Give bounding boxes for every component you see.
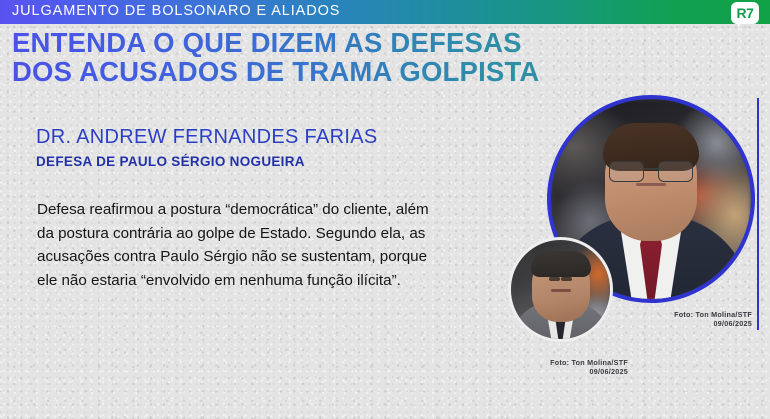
lawyer-role: DEFESA DE PAULO SÉRGIO NOGUEIRA: [36, 154, 305, 169]
portrait-small: [508, 237, 613, 342]
vertical-accent-rule: [757, 98, 759, 330]
lawyer-name: DR. ANDREW FERNANDES FARIAS: [36, 126, 377, 149]
glasses-lens-right: [658, 161, 693, 182]
portrait-small-hair: [531, 251, 591, 277]
headline-line-1: ENTENDA O QUE DIZEM AS DEFESAS: [12, 28, 592, 57]
page-title: ENTENDA O QUE DIZEM AS DEFESAS DOS ACUSA…: [12, 28, 592, 86]
photo-credit-small-date: 09/06/2025: [550, 367, 628, 376]
top-bar: JULGAMENTO DE BOLSONARO E ALIADOS R7: [0, 0, 770, 24]
glasses-bridge: [643, 168, 659, 170]
infographic-card: JULGAMENTO DE BOLSONARO E ALIADOS R7 ENT…: [0, 0, 770, 419]
photo-credit-large: Foto: Ton Molina/STF 09/06/2025: [674, 310, 752, 329]
statement-text: Defesa reafirmou a postura “democrática”…: [37, 198, 437, 292]
logo-text: R7: [731, 2, 759, 24]
portrait-small-mouth: [551, 289, 571, 292]
topbar-kicker: JULGAMENTO DE BOLSONARO E ALIADOS: [12, 3, 340, 19]
headline-line-2: DOS ACUSADOS DE TRAMA GOLPISTA: [12, 57, 592, 86]
photo-credit-large-date: 09/06/2025: [674, 319, 752, 328]
portrait-small-eye-left: [549, 277, 560, 281]
glasses-icon: [609, 161, 693, 181]
photo-credit-large-source: Foto: Ton Molina/STF: [674, 310, 752, 319]
photo-credit-small-source: Foto: Ton Molina/STF: [550, 358, 628, 367]
glasses-lens-left: [609, 161, 644, 182]
portrait-small-eye-right: [561, 277, 572, 281]
photo-credit-small: Foto: Ton Molina/STF 09/06/2025: [550, 358, 628, 377]
portrait-large-mouth: [636, 183, 666, 186]
r7-logo[interactable]: R7: [731, 2, 759, 28]
